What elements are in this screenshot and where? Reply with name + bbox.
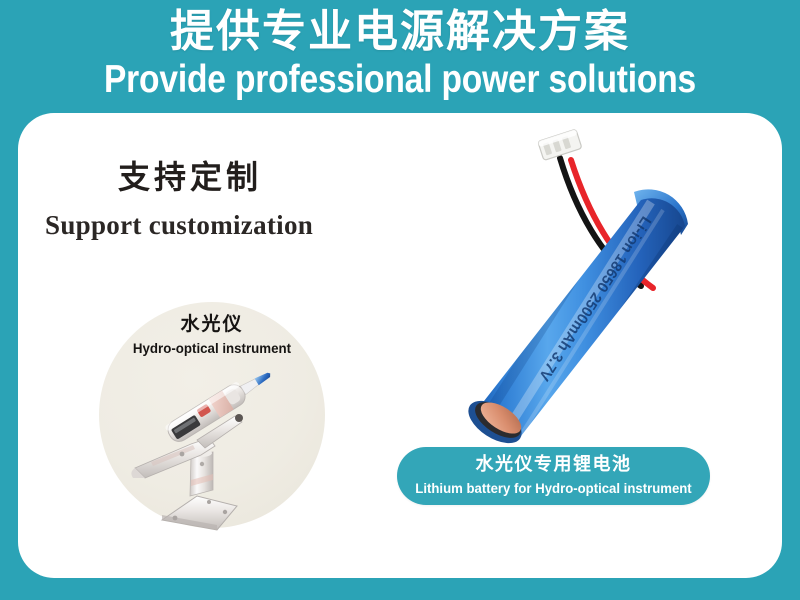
headline-chinese: 提供专业电源解决方案 (0, 6, 800, 58)
battery-caption-english: Lithium battery for Hydro-optical instru… (399, 478, 708, 498)
instrument-name-chinese: 水光仪 (99, 312, 325, 336)
banner-header: 提供专业电源解决方案 Provide professional power so… (0, 0, 800, 113)
battery-cell: Li-ion 18650 2500mAh 3.7V (461, 189, 688, 448)
battery-caption-pill: 水光仪专用锂电池 Lithium battery for Hydro-optic… (397, 447, 710, 505)
battery-connector (538, 129, 582, 160)
banner-canvas: 提供专业电源解决方案 Provide professional power so… (0, 0, 800, 600)
lithium-battery-image: Li-ion 18650 2500mAh 3.7V (395, 118, 715, 448)
support-label-english: Support customization (45, 208, 313, 242)
hydro-optical-instrument-image (105, 360, 305, 535)
battery-caption-chinese: 水光仪专用锂电池 (397, 452, 710, 477)
instrument-name-english: Hydro-optical instrument (90, 339, 333, 357)
headline-english: Provide professional power solutions (56, 58, 744, 102)
support-label-chinese: 支持定制 (118, 158, 262, 196)
